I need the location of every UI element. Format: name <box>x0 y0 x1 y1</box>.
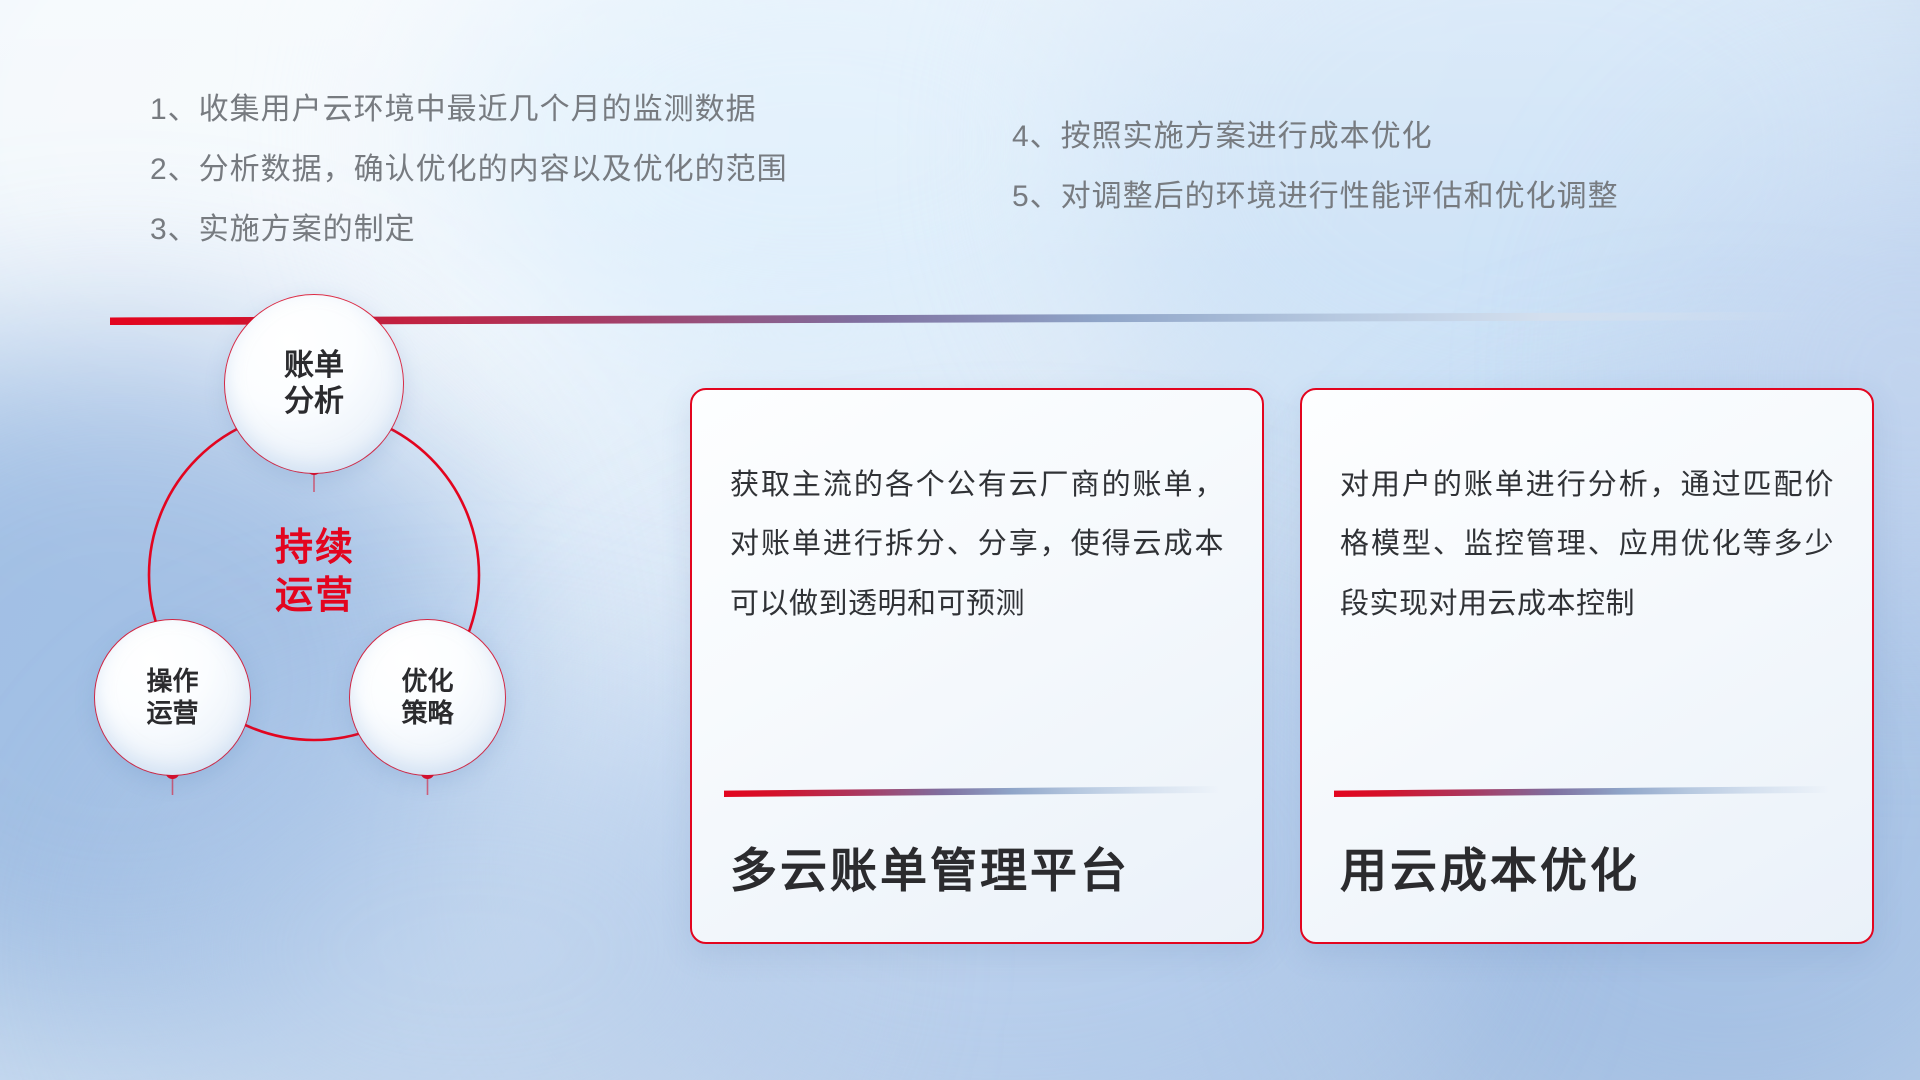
bubble-label-line1: 账单 <box>284 348 344 384</box>
diagram-center-label: 持续 运营 <box>205 525 425 620</box>
center-label-line1: 持续 <box>205 525 425 573</box>
diagram-bubble-operations[interactable]: 操作 运营 <box>95 620 250 775</box>
bubble-label-line2: 策略 <box>401 698 453 729</box>
card-body-text: 对用户的账单进行分析，通过匹配价格模型、监控管理、应用优化等多少段实现对用云成本… <box>1340 456 1834 634</box>
step-item: 3、实施方案的制定 <box>150 215 788 245</box>
bubble-label-line2: 运营 <box>146 698 198 729</box>
feature-card-cloud-cost-optimization[interactable]: 对用户的账单进行分析，通过匹配价格模型、监控管理、应用优化等多少段实现对用云成本… <box>1300 388 1874 944</box>
center-label-line2: 运营 <box>205 573 425 621</box>
step-item: 4、按照实施方案进行成本优化 <box>1012 122 1619 152</box>
step-item: 5、对调整后的环境进行性能评估和优化调整 <box>1012 182 1619 212</box>
diagram-bubble-bill-analysis[interactable]: 账单 分析 <box>225 295 403 473</box>
diagram-bubble-optimization-strategy[interactable]: 优化 策略 <box>350 620 505 775</box>
card-title: 多云账单管理平台 <box>730 832 1238 901</box>
bubble-label-line1: 优化 <box>401 666 453 697</box>
bubble-label-line2: 分析 <box>284 384 344 420</box>
card-body-text: 获取主流的各个公有云厂商的账单，对账单进行拆分、分享，使得云成本可以做到透明和可… <box>730 456 1224 634</box>
step-item: 1、收集用户云环境中最近几个月的监测数据 <box>150 95 788 125</box>
bubble-label-line1: 操作 <box>146 666 198 697</box>
card-divider <box>724 786 1220 797</box>
continuous-operation-diagram: 账单 分析 操作 运营 优化 策略 持续 运营 <box>95 340 615 940</box>
feature-card-multicloud-billing[interactable]: 获取主流的各个公有云厂商的账单，对账单进行拆分、分享，使得云成本可以做到透明和可… <box>690 388 1264 944</box>
card-divider <box>1334 786 1830 797</box>
steps-right-column: 4、按照实施方案进行成本优化 5、对调整后的环境进行性能评估和优化调整 <box>1012 122 1619 212</box>
step-item: 2、分析数据，确认优化的内容以及优化的范围 <box>150 155 788 185</box>
steps-left-column: 1、收集用户云环境中最近几个月的监测数据 2、分析数据，确认优化的内容以及优化的… <box>150 95 788 245</box>
card-title: 用云成本优化 <box>1340 832 1848 901</box>
